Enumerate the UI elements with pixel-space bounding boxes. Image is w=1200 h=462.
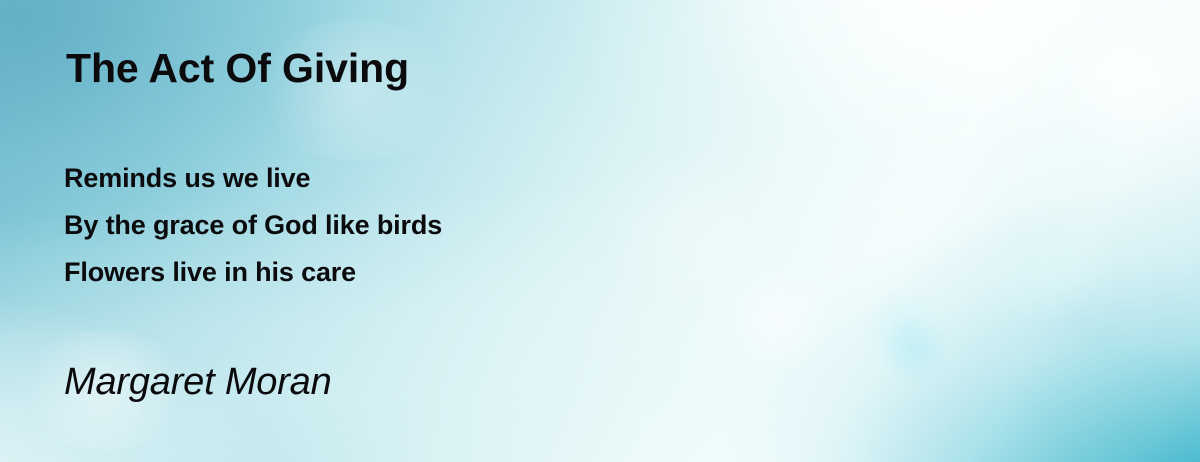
poem-line: Flowers live in his care	[64, 249, 442, 296]
poem-author: Margaret Moran	[64, 363, 332, 401]
poem-text-block: The Act Of Giving Reminds us we live By …	[0, 0, 1200, 462]
poem-title: The Act Of Giving	[66, 48, 409, 89]
poem-line: By the grace of God like birds	[64, 202, 442, 249]
poem-line: Reminds us we live	[64, 155, 442, 202]
poem-card: The Act Of Giving Reminds us we live By …	[0, 0, 1200, 462]
poem-body: Reminds us we live By the grace of God l…	[64, 155, 442, 296]
